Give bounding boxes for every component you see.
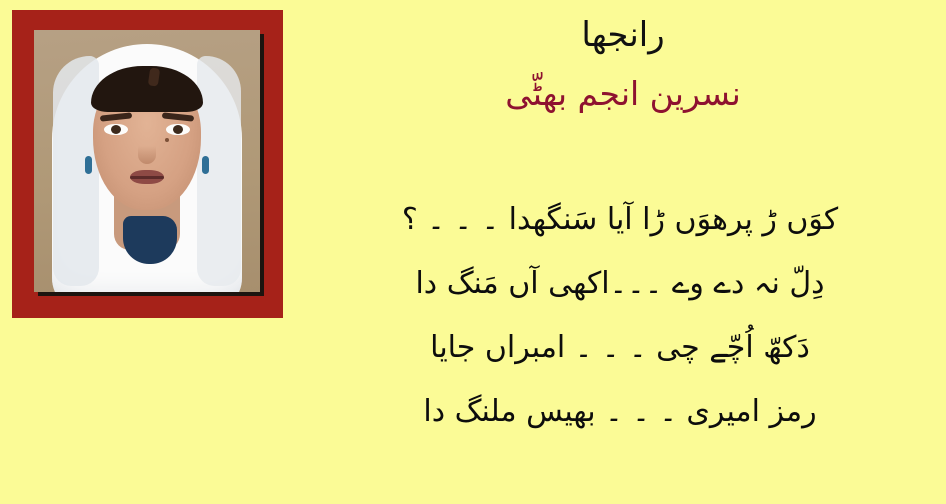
pupil-left [111,125,121,134]
collar [123,216,177,264]
poem-line: رمز امیری ۔ ۔ ۔ بھیس ملنگ دا [300,380,946,444]
earring-left [85,156,92,174]
poetry-page: رانجھا نسرین انجم بھٹّی کوَں ڑ پرھوَں ڑا… [0,0,946,504]
poem-line: کوَں ڑ پرھوَں ڑا آیا سَنگھدا ۔ ۔ ۔ ؟ [300,188,946,252]
portrait-photo [34,30,260,292]
poem-author: نسرین انجم بھٹّی [300,66,946,122]
eye-right [166,124,190,135]
poem-title: رانجھا [300,8,946,62]
lip-line [130,176,164,179]
nose [138,134,156,164]
eye-left [104,124,128,135]
poem-text-column: رانجھا نسرین انجم بھٹّی کوَں ڑ پرھوَں ڑا… [300,0,946,504]
earring-right [202,156,209,174]
poem-line: دِلّ نہ دے وے ۔۔۔اکھی آں مَنگ دا [300,252,946,316]
poem-body: کوَں ڑ پرھوَں ڑا آیا سَنگھدا ۔ ۔ ۔ ؟ دِل… [300,188,946,444]
cheek-mole [165,138,169,142]
portrait-frame [12,10,283,318]
headscarf-shade-left [53,56,99,286]
pupil-right [173,125,183,134]
poem-line: دَکھّ اُچّے چی ۔ ۔ ۔ امبراں جایا [300,316,946,380]
